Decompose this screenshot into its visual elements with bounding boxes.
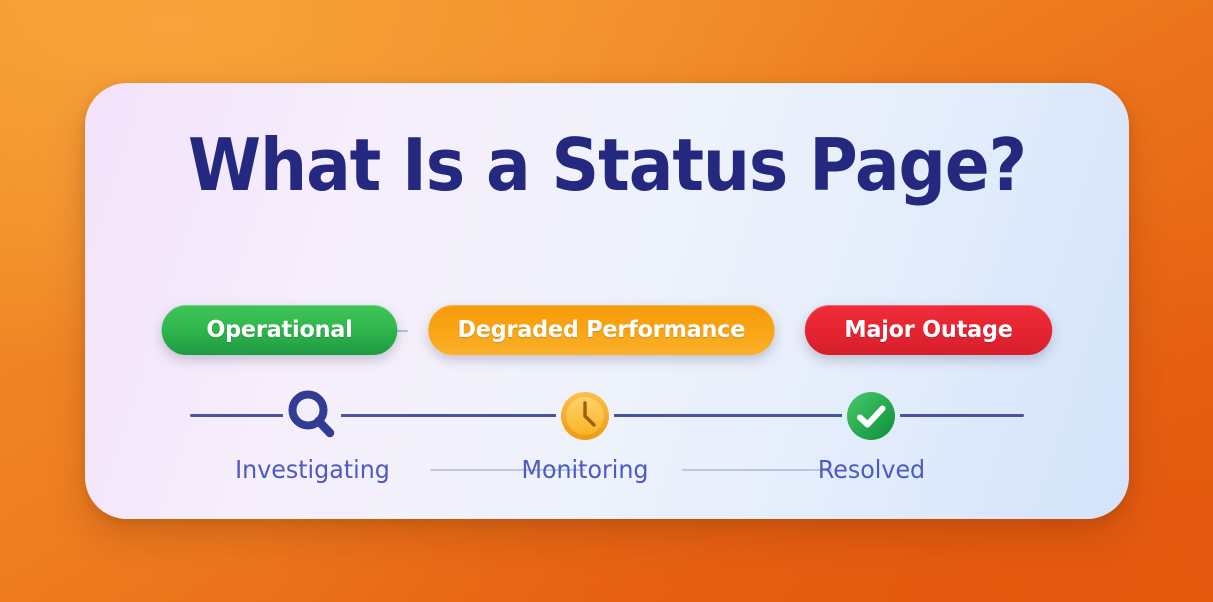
status-badge-operational[interactable]: Operational (161, 305, 397, 355)
page-title: What Is a Status Page? (127, 123, 1087, 207)
canvas: What Is a Status Page? 2026 Practical Gu… (0, 0, 1213, 602)
status-pill-row: Operational Degraded Performance Major O… (85, 305, 1129, 355)
magnifier-icon (281, 385, 343, 447)
timeline-nodes (190, 383, 1024, 449)
status-badge-major-outage[interactable]: Major Outage (805, 305, 1052, 355)
status-page-card: What Is a Status Page? 2026 Practical Gu… (85, 83, 1129, 519)
timeline-step-investigating[interactable] (279, 383, 345, 449)
check-circle-icon (845, 390, 897, 442)
status-badge-degraded-performance[interactable]: Degraded Performance (428, 305, 774, 355)
incident-timeline: Investigating Monitoring Resolved (190, 383, 1024, 493)
clock-icon (559, 390, 611, 442)
timeline-label-investigating: Investigating (215, 455, 410, 484)
timeline-step-resolved[interactable] (838, 383, 904, 449)
timeline-labels: Investigating Monitoring Resolved (190, 455, 1024, 495)
timeline-step-monitoring[interactable] (552, 383, 618, 449)
timeline-label-resolved: Resolved (794, 455, 949, 484)
card-content: What Is a Status Page? 2026 Practical Gu… (85, 83, 1129, 519)
timeline-label-monitoring: Monitoring (509, 455, 661, 484)
